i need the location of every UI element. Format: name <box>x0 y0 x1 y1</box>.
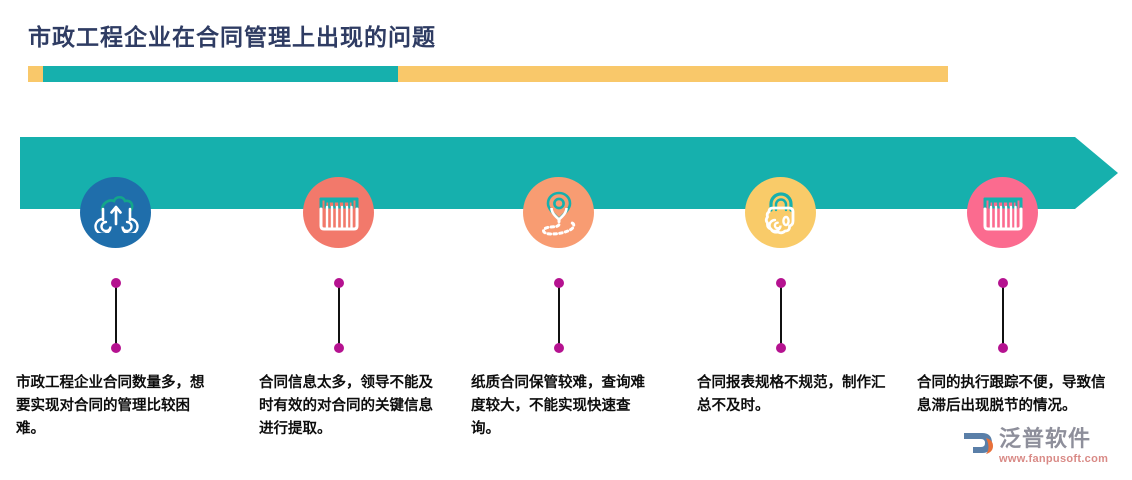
fanpu-logo-text: 泛普软件 www.fanpusoft.com <box>999 428 1108 466</box>
infographic-root: 市政工程企业在合同管理上出现的问题 <box>0 0 1132 480</box>
connector-dot-bottom <box>111 343 121 353</box>
step-column-3: 纸质合同保管较难，查询难度较大，不能实现快速查询。 <box>447 0 669 480</box>
fanpu-logo-url: www.fanpusoft.com <box>999 452 1108 466</box>
step-4-connector <box>774 278 788 358</box>
step-2-description: 合同信息太多，领导不能及时有效的对合同的关键信息进行提取。 <box>259 372 445 441</box>
connector-line <box>1002 284 1004 352</box>
connector-line <box>115 284 117 352</box>
step-1-description: 市政工程企业合同数量多，想要实现对合同的管理比较困难。 <box>16 372 212 441</box>
connector-dot-bottom <box>998 343 1008 353</box>
crate-box-icon <box>316 192 362 234</box>
step-3-icon-circle[interactable] <box>523 177 594 248</box>
connector-dot-bottom <box>776 343 786 353</box>
step-1-connector <box>109 278 123 358</box>
step-3-description: 纸质合同保管较难，查询难度较大，不能实现快速查询。 <box>471 372 657 441</box>
step-column-5: 合同的执行跟踪不便，导致信息滞后出现脱节的情况。 <box>891 0 1113 480</box>
connector-dot-top <box>554 278 564 288</box>
connector-dot-bottom <box>334 343 344 353</box>
padlock-icon <box>758 191 804 235</box>
crate-box-icon <box>980 192 1026 234</box>
step-5-icon-circle[interactable] <box>967 177 1038 248</box>
fanpu-logo-name: 泛普软件 <box>999 428 1108 452</box>
connector-line <box>780 284 782 352</box>
step-2-connector <box>332 278 346 358</box>
connector-dot-top <box>776 278 786 288</box>
connector-dot-top <box>111 278 121 288</box>
fanpu-logo-icon <box>962 429 996 461</box>
step-1-icon-circle[interactable] <box>80 177 151 248</box>
step-3-connector <box>552 278 566 358</box>
step-4-description: 合同报表规格不规范，制作汇总不及时。 <box>697 372 893 418</box>
step-column-4: 合同报表规格不规范，制作汇总不及时。 <box>669 0 891 480</box>
connector-dot-bottom <box>554 343 564 353</box>
connector-dot-top <box>334 278 344 288</box>
connector-line <box>338 284 340 352</box>
step-4-icon-circle[interactable] <box>745 177 816 248</box>
step-5-connector <box>996 278 1010 358</box>
step-column-1: 市政工程企业合同数量多，想要实现对合同的管理比较困难。 <box>4 0 226 480</box>
step-column-2: 合同信息太多，领导不能及时有效的对合同的关键信息进行提取。 <box>227 0 449 480</box>
connector-dot-top <box>998 278 1008 288</box>
cloud-upload-icon <box>92 193 140 233</box>
step-2-icon-circle[interactable] <box>303 177 374 248</box>
fanpu-logo[interactable]: 泛普软件 www.fanpusoft.com <box>962 428 1122 474</box>
map-pin-route-icon <box>536 190 582 236</box>
step-5-description: 合同的执行跟踪不便，导致信息滞后出现脱节的情况。 <box>917 372 1109 418</box>
connector-line <box>558 284 560 352</box>
